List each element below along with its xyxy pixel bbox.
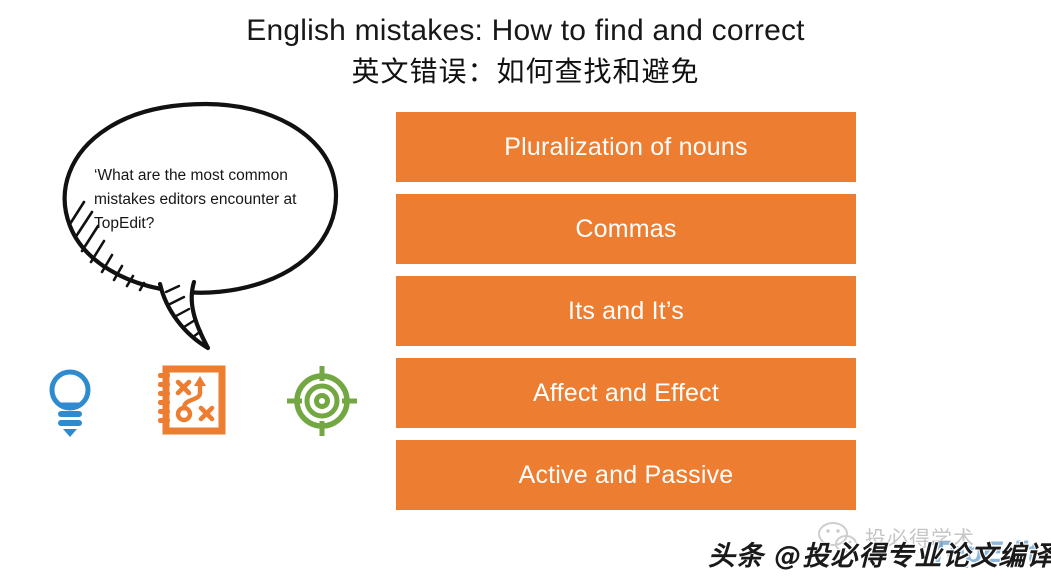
speech-bubble-text: ‘What are the most common mistakes edito… — [94, 164, 316, 236]
lightbulb-icon — [44, 363, 96, 439]
bar-item-affect-and-effect[interactable]: Affect and Effect — [396, 358, 856, 428]
target-crosshair-icon — [286, 365, 358, 437]
mistake-bar-list: Pluralization of nouns Commas Its and It… — [396, 112, 856, 522]
watermark: 投必得学术 TopEdit 头条 @投必得专业论文编译 — [690, 508, 1051, 582]
bar-label: Active and Passive — [519, 461, 734, 490]
bar-item-its-and-its[interactable]: Its and It’s — [396, 276, 856, 346]
bar-label: Commas — [575, 215, 676, 244]
icon-row — [28, 360, 378, 446]
target-crosshair-icon-slot — [286, 360, 358, 442]
bar-label: Its and It’s — [568, 297, 684, 326]
bar-label: Affect and Effect — [533, 379, 719, 408]
title-english: English mistakes: How to find and correc… — [0, 10, 1051, 52]
bar-item-active-and-passive[interactable]: Active and Passive — [396, 440, 856, 510]
bar-item-commas[interactable]: Commas — [396, 194, 856, 264]
speech-bubble: ‘What are the most common mistakes edito… — [48, 96, 358, 356]
page-title: English mistakes: How to find and correc… — [0, 10, 1051, 92]
slide-canvas: English mistakes: How to find and correc… — [0, 0, 1051, 585]
bar-item-pluralization[interactable]: Pluralization of nouns — [396, 112, 856, 182]
bar-label: Pluralization of nouns — [504, 133, 747, 162]
watermark-main-text: 头条 @投必得专业论文编译 — [708, 534, 1051, 573]
title-chinese: 英文错误：如何查找和避免 — [0, 52, 1051, 92]
strategy-playbook-icon-slot — [156, 360, 228, 442]
lightbulb-icon-slot — [34, 360, 106, 442]
strategy-playbook-icon — [158, 365, 226, 437]
